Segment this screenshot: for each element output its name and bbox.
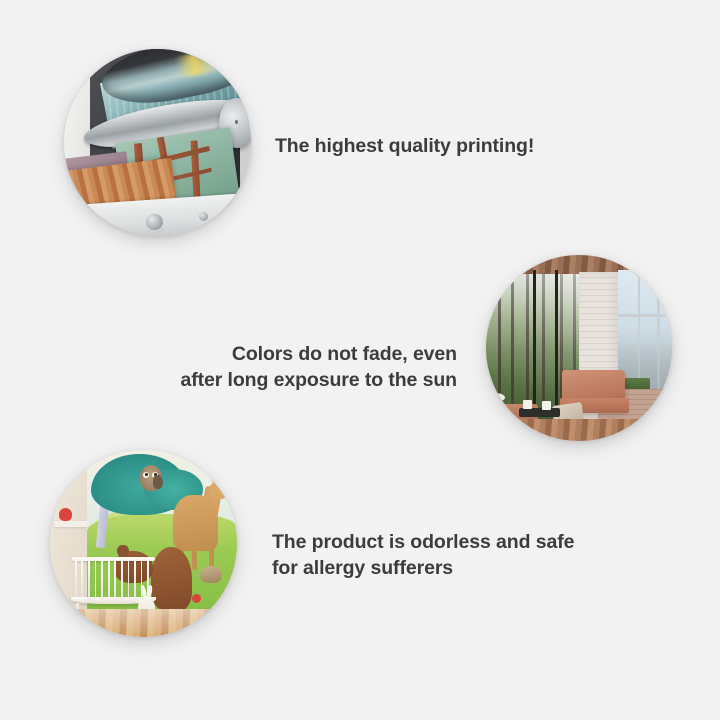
mural-deer-body <box>173 495 218 551</box>
caption-odorless-safe: The product is odorless and safe for all… <box>272 529 612 581</box>
nursery-scene <box>50 450 237 637</box>
side-table <box>486 393 505 402</box>
infographic-canvas: The highest quality printing! <box>0 0 720 720</box>
floor-reflection <box>50 609 237 637</box>
loft-wood-floor <box>486 419 672 441</box>
coffee-cup-1 <box>523 400 532 409</box>
mural-hedgehog <box>200 566 222 583</box>
coffee-cup-2 <box>542 401 551 410</box>
mural-frame-bar-2 <box>555 270 558 419</box>
caption-printing-quality: The highest quality printing! <box>275 133 605 159</box>
loft-interior-scene <box>486 255 672 441</box>
press-knob-2 <box>199 212 208 221</box>
loft-forest-mural-photo <box>486 255 672 441</box>
nursery-animal-mural-photo <box>50 450 237 637</box>
mural-owl <box>140 465 162 491</box>
mural-frame-bar-1 <box>533 270 536 419</box>
mural-deer-head <box>209 482 231 499</box>
printing-press-scene <box>64 49 251 236</box>
printing-press-photo <box>64 49 251 236</box>
mural-bear-ear <box>117 545 128 556</box>
nursery-shelf <box>54 521 88 527</box>
shelf-toy <box>59 508 72 521</box>
mural-bear-large <box>151 547 192 611</box>
caption-colorfast: Colors do not fade, even after long expo… <box>137 341 457 393</box>
